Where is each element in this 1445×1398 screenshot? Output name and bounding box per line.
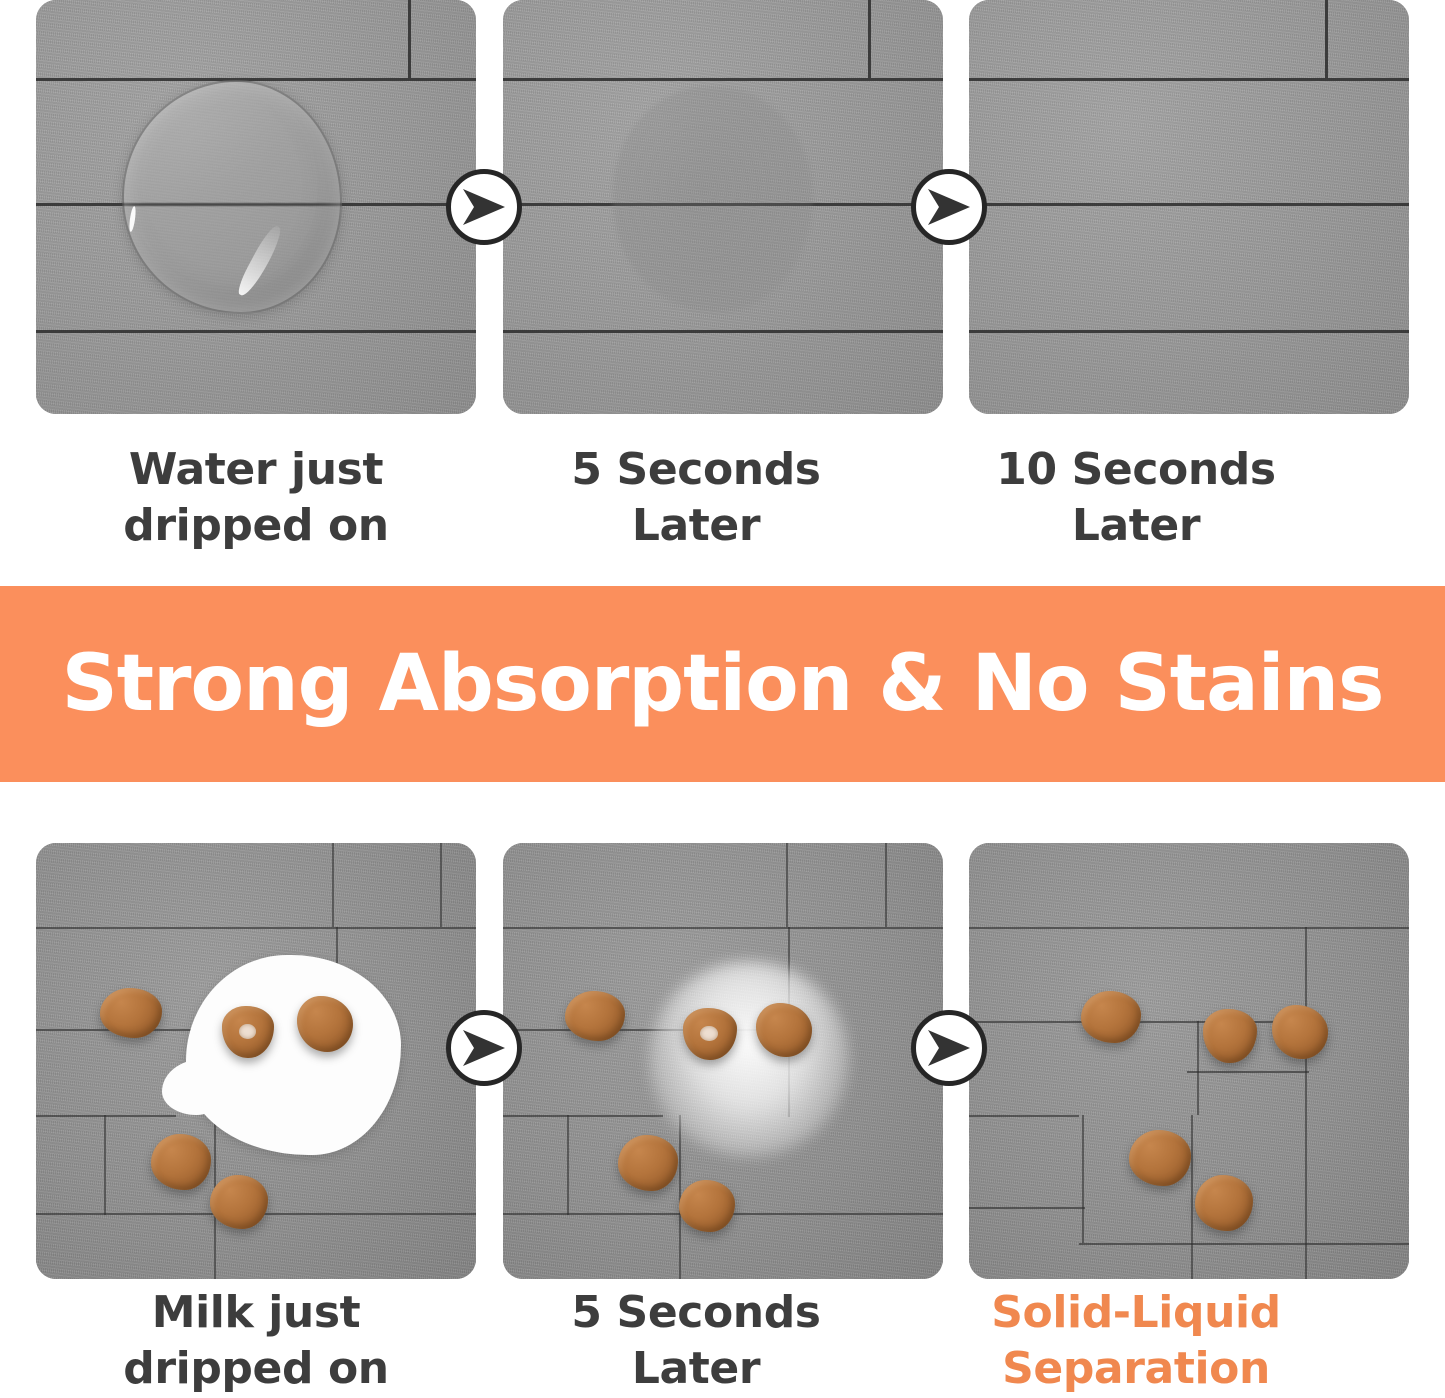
caption-line-1: Water just [36,442,476,498]
stone-mat-texture [969,843,1409,1279]
kibble-piece [565,991,625,1041]
caption-line-2: dripped on [36,1341,476,1397]
grout-line [1191,1115,1193,1279]
grout-line [969,1115,1079,1117]
caption-line-1: 10 Seconds [916,442,1356,498]
caption-line-1: 5 Seconds [476,1285,916,1341]
water-droplet [122,80,342,314]
grout-line [969,203,1409,206]
kibble-center-hole [700,1026,718,1042]
kibble-center-hole [239,1024,257,1040]
caption-line-2: Later [476,498,916,554]
caption-10-seconds-water: 10 Seconds Later [916,442,1356,582]
caption-line-2: Separation [916,1341,1356,1397]
caption-line-1: Solid-Liquid [916,1285,1356,1341]
caption-line-2: Later [916,498,1356,554]
milk-puddle [186,955,401,1155]
grout-line [408,0,411,78]
grout-line [503,78,943,81]
caption-line-2: Later [476,1341,916,1397]
photo-panel-solid-liquid-separation [969,843,1409,1279]
grout-line [868,0,871,78]
grout-line [503,330,943,333]
kibble-piece [210,1175,268,1229]
grout-line [440,843,442,927]
caption-5-seconds-milk: 5 Seconds Later [476,1285,916,1395]
grout-line [969,330,1409,333]
bottom-caption-row: Milk just dripped on 5 Seconds Later Sol… [0,1285,1445,1395]
bottom-photo-row [0,843,1445,1279]
droplet-highlight [235,223,286,299]
grout-line [1325,0,1328,78]
grout-line [104,1115,106,1215]
grout-line [36,927,476,929]
caption-solid-liquid-separation: Solid-Liquid Separation [916,1285,1356,1395]
arrow-right-icon-top-2 [911,169,987,245]
top-caption-row: Water just dripped on 5 Seconds Later 10… [0,442,1445,582]
kibble-piece [151,1134,211,1190]
grout-line [1082,1115,1084,1243]
kibble-piece [1195,1175,1253,1231]
kibble-piece [679,1180,735,1232]
grout-line [1079,1243,1409,1245]
photo-panel-water-dripped [36,0,476,414]
grout-line [969,1207,1085,1209]
photo-panel-10-seconds-water [969,0,1409,414]
grout-line [1197,1021,1199,1115]
caption-line-1: Milk just [36,1285,476,1341]
damp-absorption-patch [613,86,813,312]
grout-line [1305,1071,1307,1279]
headline-banner: Strong Absorption & No Stains [0,586,1445,782]
photo-panel-5-seconds-water [503,0,943,414]
grout-line [969,927,1409,929]
droplet-highlight [128,206,137,232]
kibble-piece [1129,1130,1191,1186]
grout-line [36,78,476,81]
caption-5-seconds-water: 5 Seconds Later [476,442,916,582]
grout-line [36,330,476,333]
arrow-right-icon-bottom-1 [446,1010,522,1086]
photo-panel-milk-dripped [36,843,476,1279]
caption-milk-dripped: Milk just dripped on [36,1285,476,1395]
grout-line [332,843,334,927]
kibble-piece [1081,991,1141,1043]
grout-line [503,1115,663,1117]
caption-line-1: 5 Seconds [476,442,916,498]
caption-line-2: dripped on [36,498,476,554]
milk-absorbing-patch [649,961,849,1157]
grout-line [786,843,788,927]
grout-line [503,927,943,929]
stone-mat-texture [969,0,1409,414]
grout-line [567,1115,569,1215]
infographic-page: Water just dripped on 5 Seconds Later 10… [0,0,1445,1395]
arrow-right-icon-bottom-2 [911,1010,987,1086]
grout-line [36,1115,176,1117]
grout-line [969,78,1409,81]
arrow-right-icon-top-1 [446,169,522,245]
kibble-piece [618,1135,678,1191]
grout-line [1187,1071,1309,1073]
caption-water-dripped: Water just dripped on [36,442,476,582]
grout-line [885,843,887,927]
photo-panel-5-seconds-milk [503,843,943,1279]
kibble-piece [100,988,162,1038]
headline-text: Strong Absorption & No Stains [62,639,1384,729]
top-photo-row [0,0,1445,414]
